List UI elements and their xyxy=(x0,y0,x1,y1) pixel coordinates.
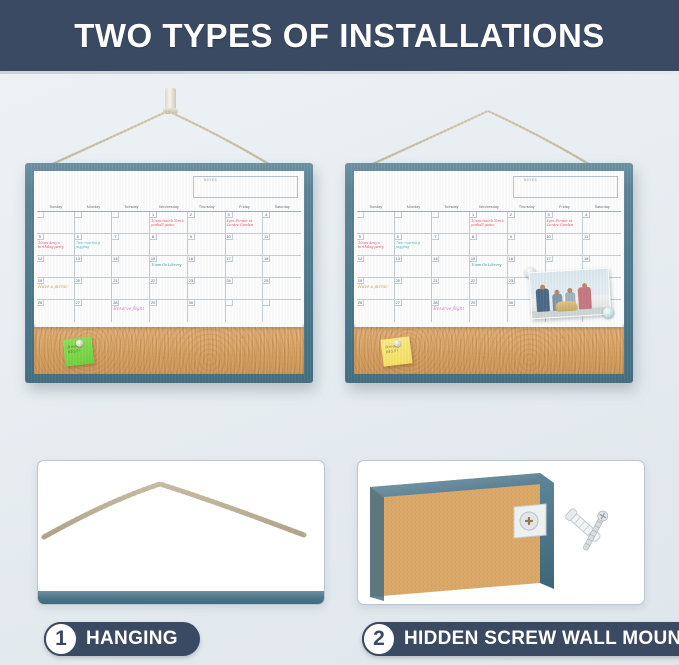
calendar-cell: 36pm Dinner at Centre Garden xyxy=(226,212,264,234)
calendar-date-number: 12 xyxy=(37,256,44,262)
calendar-date-number: 12 xyxy=(357,256,364,262)
calendar-date-number: 3 xyxy=(226,212,233,218)
calendar-date-number xyxy=(395,212,402,218)
calendar-cell: 16 xyxy=(188,256,226,278)
calendar-cell xyxy=(263,300,301,322)
rope-detail-illustration xyxy=(38,461,325,593)
calendar-cell: 8 xyxy=(470,234,508,256)
calendar-cell: 36pm Dinner at Centre Garden xyxy=(546,212,584,234)
family-photo xyxy=(529,268,612,320)
calendar-date-number: 23 xyxy=(188,278,195,284)
calendar-cell xyxy=(226,300,264,322)
calendar-cell: 28Reserve flight xyxy=(432,300,470,322)
calendar-date-number: 24 xyxy=(226,278,233,284)
calendar-cell xyxy=(75,212,113,234)
calendar-date-number: 21 xyxy=(432,278,439,284)
calendar-date-number: 6 xyxy=(75,234,82,240)
calendar-date-number: 23 xyxy=(508,278,515,284)
calendar-cell: 27 xyxy=(395,300,433,322)
calendar-date-number: 29 xyxy=(150,300,157,306)
calendar-cell: 21 xyxy=(112,278,150,300)
day-header: Friday xyxy=(226,203,264,211)
day-header: Tuesday xyxy=(112,203,150,211)
calendar-date-number: 28 xyxy=(112,300,119,306)
calendar-cell: 12 xyxy=(357,256,395,278)
calendar-date-number: 22 xyxy=(150,278,157,284)
calendar-entry: Have a picnic xyxy=(358,285,393,290)
calendar-date-number: 19 xyxy=(357,278,364,284)
calendar-cell: 22 xyxy=(150,278,188,300)
cork-strip-a: Dream BIG!!! xyxy=(34,327,304,374)
step-label-text: HANGING xyxy=(86,628,178,650)
calendar-date-number: 17 xyxy=(226,256,233,262)
day-header: Monday xyxy=(75,203,113,211)
calendar-cell: 29 xyxy=(470,300,508,322)
header-divider xyxy=(0,71,679,74)
day-header: Saturday xyxy=(583,203,621,211)
calendar-date-number: 30 xyxy=(188,300,195,306)
calendar-date-number: 8 xyxy=(150,234,157,240)
calendar-date-number: 25 xyxy=(263,278,270,284)
dog-icon xyxy=(555,301,578,312)
calendar-date-number: 27 xyxy=(395,300,402,306)
calendar-cell: 110am watch Tim's pinball game xyxy=(470,212,508,234)
magnet-icon xyxy=(603,307,614,318)
notes-box: NOTES xyxy=(513,176,618,198)
calendar-entry: 7am morning jogging xyxy=(76,241,111,250)
calendar-date-number: 2 xyxy=(188,212,195,218)
calendar-date-number: 8 xyxy=(470,234,477,240)
calendar-date-number: 15 xyxy=(150,256,157,262)
calendar-date-number: 13 xyxy=(395,256,402,262)
calendar-cell: 14 xyxy=(112,256,150,278)
calendar-cell: 24 xyxy=(226,278,264,300)
sticky-note-green: Dream BIG!!! xyxy=(62,336,94,366)
calendar-date-number: 29 xyxy=(470,300,477,306)
step-pill: HIDDEN SCREW WALL MOUNT xyxy=(362,622,679,656)
calendar-entry: 7am morning jogging xyxy=(396,241,431,250)
calendar-date-number xyxy=(37,212,44,218)
calendar-cell: 2 xyxy=(188,212,226,234)
whiteboard-calendar-a: NOTES Sunday Monday Tuesday Wednesday Th… xyxy=(34,171,304,324)
day-header: Tuesday xyxy=(432,203,470,211)
detail-panel-wall-mount xyxy=(357,460,645,605)
calendar-cell: 28Reserve flight xyxy=(112,300,150,322)
calendar-cell: 17 xyxy=(226,256,264,278)
calendar-date-number xyxy=(357,212,364,218)
calendar-cell: 510am Amy's birthday party xyxy=(37,234,75,256)
calendar-date-number: 17 xyxy=(546,256,553,262)
calendar-date-number: 30 xyxy=(508,300,515,306)
calendar-cell: 1510am Go Library xyxy=(150,256,188,278)
calendar-entry: 10am Go Library xyxy=(471,263,506,267)
page-title: TWO TYPES OF INSTALLATIONS xyxy=(74,17,605,55)
calendar-date-number: 18 xyxy=(583,256,590,262)
calendar-cell: 4 xyxy=(583,212,621,234)
day-header-row: Sunday Monday Tuesday Wednesday Thursday… xyxy=(357,203,621,212)
calendar-cell: 7 xyxy=(432,234,470,256)
calendar-cell: 19Have a picnic xyxy=(37,278,75,300)
calendar-date-number: 28 xyxy=(432,300,439,306)
calendar-date-number: 22 xyxy=(470,278,477,284)
calendar-cell: 12 xyxy=(37,256,75,278)
calendar-cell: 1510am Go Library xyxy=(470,256,508,278)
calendar-cell xyxy=(432,212,470,234)
calendar-date-number: 11 xyxy=(263,234,270,240)
calendar-date-number xyxy=(226,300,233,306)
calendar-date-number: 6 xyxy=(395,234,402,240)
calendar-entry: 6pm Dinner at Centre Garden xyxy=(227,219,262,228)
calendar-cell: 7 xyxy=(112,234,150,256)
calendar-date-number: 4 xyxy=(263,212,270,218)
calendar-cell: 30 xyxy=(188,300,226,322)
step-label-text: HIDDEN SCREW WALL MOUNT xyxy=(404,628,679,650)
calendar-entry: 10am watch Tim's pinball game xyxy=(151,219,186,228)
calendar-cell: 4 xyxy=(263,212,301,234)
calendar-date-number: 16 xyxy=(188,256,195,262)
day-header: Saturday xyxy=(263,203,301,211)
calendar-date-number: 2 xyxy=(508,212,515,218)
calendar-date-number: 1 xyxy=(470,212,477,218)
calendar-cell: 10 xyxy=(226,234,264,256)
calendar-date-number: 10 xyxy=(226,234,233,240)
calendar-cell: 14 xyxy=(432,256,470,278)
calendar-date-number: 5 xyxy=(37,234,44,240)
calendar-cell: 9 xyxy=(188,234,226,256)
step-number-badge: 2 xyxy=(362,622,396,656)
notes-label: NOTES xyxy=(202,178,219,182)
calendar-cell: 25 xyxy=(263,278,301,300)
calendar-date-number: 16 xyxy=(508,256,515,262)
calendar-date-number: 4 xyxy=(583,212,590,218)
calendar-cell: 13 xyxy=(395,256,433,278)
calendar-cell: 18 xyxy=(263,256,301,278)
notes-label: NOTES xyxy=(522,178,539,182)
calendar-date-number: 7 xyxy=(112,234,119,240)
calendar-entry: 10am Amy's birthday party xyxy=(38,241,73,250)
calendar-cell: 19Have a picnic xyxy=(357,278,395,300)
calendar-date-number: 13 xyxy=(75,256,82,262)
calendar-cell: 20 xyxy=(75,278,113,300)
calendar-cell xyxy=(37,212,75,234)
calendar-entry: 10am watch Tim's pinball game xyxy=(471,219,506,228)
calendar-date-number: 15 xyxy=(470,256,477,262)
hanging-rope-icon xyxy=(0,80,679,170)
sticky-note-yellow: Dream BIG!!! xyxy=(380,336,412,366)
calendar-cell xyxy=(357,212,395,234)
calendar-cell: 510am Amy's birthday party xyxy=(357,234,395,256)
calendar-cell xyxy=(112,212,150,234)
calendar-date-number xyxy=(263,300,270,306)
calendar-entry: 10am Amy's birthday party xyxy=(358,241,393,250)
calendar-cell: 29 xyxy=(150,300,188,322)
calendar-cell: 22 xyxy=(470,278,508,300)
calendar-cell: 11 xyxy=(263,234,301,256)
calendar-cell: 11 xyxy=(583,234,621,256)
calendar-cell: 23 xyxy=(188,278,226,300)
calendar-grid-a: 110am watch Tim's pinball game236pm Dinn… xyxy=(37,212,301,322)
calendar-date-number: 20 xyxy=(75,278,82,284)
day-header: Thursday xyxy=(508,203,546,211)
calendar-cell: 110am watch Tim's pinball game xyxy=(150,212,188,234)
calendar-entry: Reserve flight xyxy=(113,307,148,312)
calendar-date-number: 9 xyxy=(188,234,195,240)
detail-panel-hanging xyxy=(37,460,325,605)
day-header: Monday xyxy=(395,203,433,211)
calendar-cell: 26 xyxy=(37,300,75,322)
board-surface: NOTES Sunday Monday Tuesday Wednesday Th… xyxy=(354,171,624,374)
day-header: Friday xyxy=(546,203,584,211)
screw-mount-illustration xyxy=(358,461,645,605)
calendar-entry: Have a picnic xyxy=(38,285,73,290)
calendar-date-number: 7 xyxy=(432,234,439,240)
cork-strip-b: Dream BIG!!! xyxy=(354,327,624,374)
calendar-entry: Reserve flight xyxy=(433,307,468,312)
calendar-cell xyxy=(395,212,433,234)
calendar-entry: 10am Go Library xyxy=(151,263,186,267)
calendar-date-number: 14 xyxy=(432,256,439,262)
day-header: Sunday xyxy=(357,203,395,211)
calendar-board-hanging: NOTES Sunday Monday Tuesday Wednesday Th… xyxy=(25,163,313,383)
calendar-cell: 27 xyxy=(75,300,113,322)
calendar-date-number: 21 xyxy=(112,278,119,284)
calendar-date-number: 19 xyxy=(37,278,44,284)
board-frame-edge xyxy=(38,591,324,604)
calendar-cell: 8 xyxy=(150,234,188,256)
notes-box: NOTES xyxy=(193,176,298,198)
calendar-cell: 20 xyxy=(395,278,433,300)
calendar-cell: 2 xyxy=(508,212,546,234)
calendar-date-number: 5 xyxy=(357,234,364,240)
day-header: Wednesday xyxy=(150,203,188,211)
calendar-date-number xyxy=(112,212,119,218)
day-header: Thursday xyxy=(188,203,226,211)
calendar-entry: 6pm Dinner at Centre Garden xyxy=(547,219,582,228)
calendar-date-number: 14 xyxy=(112,256,119,262)
calendar-cell: 9 xyxy=(508,234,546,256)
calendar-date-number: 1 xyxy=(150,212,157,218)
calendar-cell: 67am morning jogging xyxy=(395,234,433,256)
calendar-board-wall-mount: NOTES Sunday Monday Tuesday Wednesday Th… xyxy=(345,163,633,383)
calendar-date-number: 26 xyxy=(37,300,44,306)
board-frame: NOTES Sunday Monday Tuesday Wednesday Th… xyxy=(345,163,633,383)
calendar-cell: 26 xyxy=(357,300,395,322)
calendar-cell: 10 xyxy=(546,234,584,256)
calendar-date-number: 10 xyxy=(546,234,553,240)
board-frame: NOTES Sunday Monday Tuesday Wednesday Th… xyxy=(25,163,313,383)
board-surface: NOTES Sunday Monday Tuesday Wednesday Th… xyxy=(34,171,304,374)
calendar-date-number: 20 xyxy=(395,278,402,284)
calendar-date-number xyxy=(75,212,82,218)
calendar-date-number: 3 xyxy=(546,212,553,218)
day-header: Sunday xyxy=(37,203,75,211)
calendar-date-number: 26 xyxy=(357,300,364,306)
day-header-row: Sunday Monday Tuesday Wednesday Thursday… xyxy=(37,203,301,212)
step-label-1: HANGING 1 xyxy=(44,622,200,656)
calendar-date-number xyxy=(432,212,439,218)
calendar-cell: 21 xyxy=(432,278,470,300)
calendar-cell: 13 xyxy=(75,256,113,278)
day-header: Wednesday xyxy=(470,203,508,211)
step-number-badge: 1 xyxy=(44,622,78,656)
header-banner: TWO TYPES OF INSTALLATIONS xyxy=(0,0,679,71)
calendar-date-number: 27 xyxy=(75,300,82,306)
calendar-date-number: 9 xyxy=(508,234,515,240)
calendar-date-number: 18 xyxy=(263,256,270,262)
calendar-cell: 67am morning jogging xyxy=(75,234,113,256)
step-label-2: HIDDEN SCREW WALL MOUNT 2 xyxy=(362,622,679,656)
calendar-date-number: 11 xyxy=(583,234,590,240)
